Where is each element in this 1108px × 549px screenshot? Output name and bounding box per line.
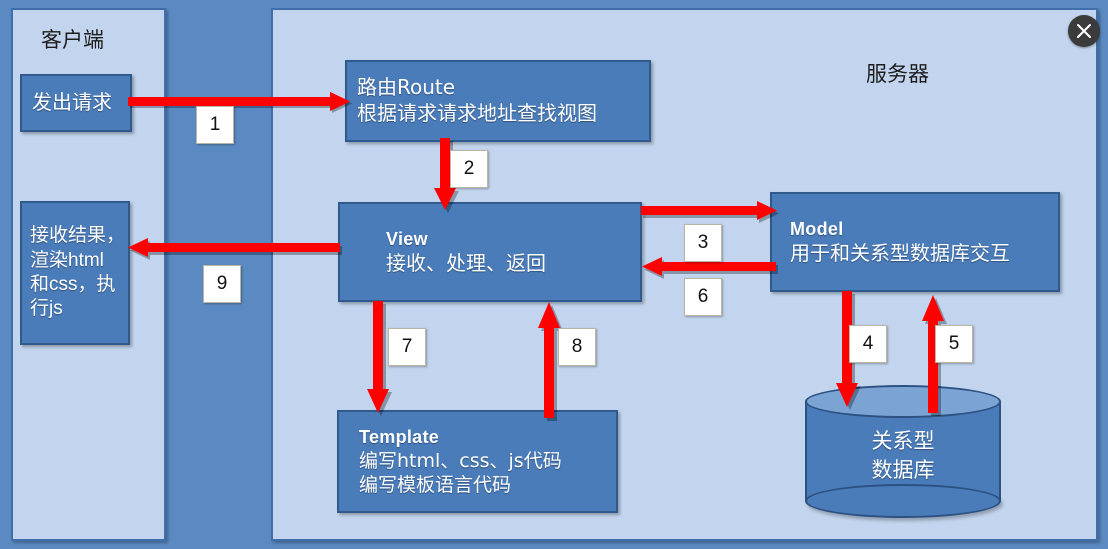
node-template-line-2: 编写html、css、js代码 (339, 449, 616, 473)
node-template-line-3: 编写模板语言代码 (339, 473, 616, 497)
node-route[interactable]: 路由Route 根据请求请求地址查找视图 (345, 60, 651, 142)
node-receive-result[interactable]: 接收结果， 渲染html 和css，执 行js (20, 201, 130, 345)
node-template[interactable]: Template 编写html、css、js代码 编写模板语言代码 (337, 410, 618, 513)
node-receive-result-line-3: 和css，执 (22, 273, 128, 297)
arrow-1-request-to-route (128, 88, 353, 112)
node-model-line-1: Model (772, 218, 1058, 241)
node-model[interactable]: Model 用于和关系型数据库交互 (770, 192, 1060, 292)
step-label-5: 5 (935, 325, 973, 363)
node-view-line-2: 接收、处理、返回 (340, 251, 640, 277)
step-label-7: 7 (388, 328, 426, 366)
node-view-line-1: View (340, 228, 640, 251)
arrow-9-view-to-client (126, 238, 346, 262)
node-database-label: 关系型 数据库 (805, 427, 1001, 485)
step-label-2: 2 (450, 150, 488, 188)
node-database[interactable]: 关系型 数据库 (805, 385, 1001, 518)
node-receive-result-line-4: 行js (22, 297, 128, 321)
server-panel-title: 服务器 (866, 58, 929, 88)
node-send-request-line-1: 发出请求 (22, 90, 130, 116)
step-label-3: 3 (684, 224, 722, 262)
database-cylinder-bottom (805, 484, 1001, 518)
node-send-request[interactable]: 发出请求 (20, 74, 132, 132)
database-cylinder-top (805, 385, 1001, 418)
diagram-canvas: 客户端 发出请求 接收结果， 渲染html 和css，执 行js 服务器 路由R… (0, 0, 1108, 549)
node-database-line-1: 关系型 (805, 427, 1001, 456)
node-receive-result-line-2: 渲染html (22, 249, 128, 273)
node-receive-result-line-1: 接收结果， (22, 224, 128, 248)
node-template-line-1: Template (339, 426, 616, 449)
node-model-line-2: 用于和关系型数据库交互 (772, 241, 1058, 267)
node-route-line-1: 路由Route (347, 75, 649, 101)
close-button[interactable] (1068, 15, 1100, 47)
step-label-1: 1 (196, 106, 234, 144)
node-view[interactable]: View 接收、处理、返回 (338, 202, 642, 302)
arrow-3-view-to-model (641, 201, 783, 225)
client-panel-title: 客户端 (41, 24, 104, 54)
step-label-6: 6 (684, 278, 722, 316)
node-route-line-2: 根据请求请求地址查找视图 (347, 101, 649, 127)
step-label-4: 4 (849, 325, 887, 363)
node-database-line-2: 数据库 (805, 456, 1001, 485)
step-label-8: 8 (558, 328, 596, 366)
step-label-9: 9 (203, 265, 241, 303)
